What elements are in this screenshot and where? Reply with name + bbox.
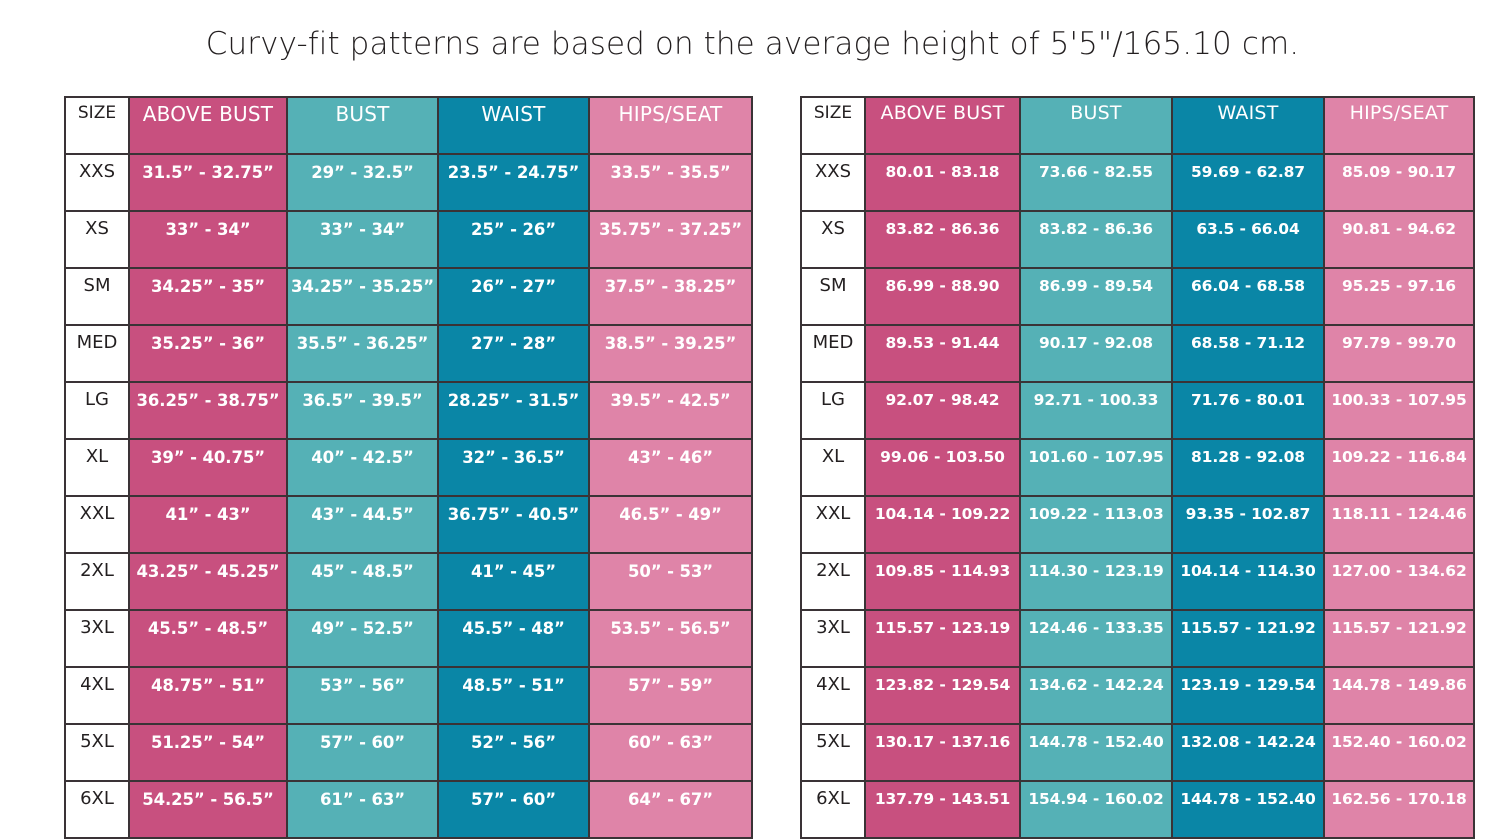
table-row: 2XL109.85 - 114.93114.30 - 123.19104.14 … (801, 553, 1474, 610)
cell-above-bust: 51.25” - 54” (129, 724, 287, 781)
cell-hips-seat: 33.5” - 35.5” (589, 154, 752, 211)
cell-waist: 28.25” - 31.5” (438, 382, 589, 439)
cell-size-label: LG (65, 382, 129, 439)
cell-above-bust: 41” - 43” (129, 496, 287, 553)
cell-above-bust: 36.25” - 38.75” (129, 382, 287, 439)
cell-bust: 61” - 63” (287, 781, 438, 838)
cell-above-bust: 31.5” - 32.75” (129, 154, 287, 211)
cell-waist: 104.14 - 114.30 (1172, 553, 1324, 610)
cell-hips-seat: 127.00 - 134.62 (1324, 553, 1474, 610)
cell-bust: 36.5” - 39.5” (287, 382, 438, 439)
cell-hips-seat: 118.11 - 124.46 (1324, 496, 1474, 553)
column-header-hips-seat: HIPS/SEAT (1324, 97, 1474, 154)
cell-bust: 29” - 32.5” (287, 154, 438, 211)
cell-hips-seat: 90.81 - 94.62 (1324, 211, 1474, 268)
table-row: XXL41” - 43”43” - 44.5”36.75” - 40.5”46.… (65, 496, 752, 553)
table-row: 5XL51.25” - 54”57” - 60”52” - 56”60” - 6… (65, 724, 752, 781)
cell-bust: 144.78 - 152.40 (1020, 724, 1172, 781)
table-body: XXS31.5” - 32.75”29” - 32.5”23.5” - 24.7… (65, 154, 752, 838)
cell-above-bust: 83.82 - 86.36 (865, 211, 1020, 268)
cell-size-label: 3XL (801, 610, 865, 667)
cell-hips-seat: 43” - 46” (589, 439, 752, 496)
cell-waist: 71.76 - 80.01 (1172, 382, 1324, 439)
table-row: 4XL123.82 - 129.54134.62 - 142.24123.19 … (801, 667, 1474, 724)
table-row: 4XL48.75” - 51”53” - 56”48.5” - 51”57” -… (65, 667, 752, 724)
column-header-size: SIZE (65, 97, 129, 154)
cell-waist: 25” - 26” (438, 211, 589, 268)
cell-bust: 49” - 52.5” (287, 610, 438, 667)
cell-bust: 134.62 - 142.24 (1020, 667, 1172, 724)
cell-size-label: SM (65, 268, 129, 325)
cell-bust: 90.17 - 92.08 (1020, 325, 1172, 382)
cell-size-label: 6XL (801, 781, 865, 838)
cell-size-label: XL (65, 439, 129, 496)
cell-hips-seat: 50” - 53” (589, 553, 752, 610)
cell-waist: 48.5” - 51” (438, 667, 589, 724)
cell-size-label: XS (65, 211, 129, 268)
cell-bust: 34.25” - 35.25” (287, 268, 438, 325)
table-row: 2XL43.25” - 45.25”45” - 48.5”41” - 45”50… (65, 553, 752, 610)
cell-above-bust: 33” - 34” (129, 211, 287, 268)
table-header-row: SIZE ABOVE BUST BUST WAIST HIPS/SEAT (801, 97, 1474, 154)
cell-bust: 83.82 - 86.36 (1020, 211, 1172, 268)
table-header-row: SIZE ABOVE BUST BUST WAIST HIPS/SEAT (65, 97, 752, 154)
cell-hips-seat: 85.09 - 90.17 (1324, 154, 1474, 211)
cell-bust: 124.46 - 133.35 (1020, 610, 1172, 667)
size-table-inches: SIZE ABOVE BUST BUST WAIST HIPS/SEAT XXS… (64, 96, 753, 839)
cell-waist: 66.04 - 68.58 (1172, 268, 1324, 325)
cell-above-bust: 109.85 - 114.93 (865, 553, 1020, 610)
cell-above-bust: 86.99 - 88.90 (865, 268, 1020, 325)
cell-bust: 33” - 34” (287, 211, 438, 268)
cell-waist: 23.5” - 24.75” (438, 154, 589, 211)
cell-hips-seat: 115.57 - 121.92 (1324, 610, 1474, 667)
cell-size-label: 2XL (801, 553, 865, 610)
column-header-hips-seat: HIPS/SEAT (589, 97, 752, 154)
cell-waist: 144.78 - 152.40 (1172, 781, 1324, 838)
table-row: 3XL45.5” - 48.5”49” - 52.5”45.5” - 48”53… (65, 610, 752, 667)
table-row: MED89.53 - 91.4490.17 - 92.0868.58 - 71.… (801, 325, 1474, 382)
cell-bust: 57” - 60” (287, 724, 438, 781)
cell-bust: 86.99 - 89.54 (1020, 268, 1172, 325)
cell-hips-seat: 109.22 - 116.84 (1324, 439, 1474, 496)
table-row: SM86.99 - 88.9086.99 - 89.5466.04 - 68.5… (801, 268, 1474, 325)
cell-hips-seat: 37.5” - 38.25” (589, 268, 752, 325)
cell-hips-seat: 60” - 63” (589, 724, 752, 781)
cell-size-label: SM (801, 268, 865, 325)
cell-above-bust: 89.53 - 91.44 (865, 325, 1020, 382)
cell-waist: 27” - 28” (438, 325, 589, 382)
cell-waist: 59.69 - 62.87 (1172, 154, 1324, 211)
cell-bust: 35.5” - 36.25” (287, 325, 438, 382)
cell-above-bust: 54.25” - 56.5” (129, 781, 287, 838)
cell-size-label: XXL (801, 496, 865, 553)
table-row: XXS80.01 - 83.1873.66 - 82.5559.69 - 62.… (801, 154, 1474, 211)
cell-size-label: XXS (801, 154, 865, 211)
table-body: XXS80.01 - 83.1873.66 - 82.5559.69 - 62.… (801, 154, 1474, 838)
cell-waist: 41” - 45” (438, 553, 589, 610)
cell-waist: 115.57 - 121.92 (1172, 610, 1324, 667)
cell-hips-seat: 100.33 - 107.95 (1324, 382, 1474, 439)
cell-size-label: 5XL (801, 724, 865, 781)
cell-size-label: XS (801, 211, 865, 268)
table-row: 5XL130.17 - 137.16144.78 - 152.40132.08 … (801, 724, 1474, 781)
table-row: XXL104.14 - 109.22109.22 - 113.0393.35 -… (801, 496, 1474, 553)
cell-waist: 81.28 - 92.08 (1172, 439, 1324, 496)
cell-bust: 109.22 - 113.03 (1020, 496, 1172, 553)
cell-bust: 92.71 - 100.33 (1020, 382, 1172, 439)
column-header-waist: WAIST (1172, 97, 1324, 154)
table-row: XL39” - 40.75”40” - 42.5”32” - 36.5”43” … (65, 439, 752, 496)
table-row: 3XL115.57 - 123.19124.46 - 133.35115.57 … (801, 610, 1474, 667)
column-header-bust: BUST (287, 97, 438, 154)
cell-size-label: 4XL (801, 667, 865, 724)
cell-hips-seat: 53.5” - 56.5” (589, 610, 752, 667)
cell-above-bust: 45.5” - 48.5” (129, 610, 287, 667)
size-table-centimeters: SIZE ABOVE BUST BUST WAIST HIPS/SEAT XXS… (800, 96, 1475, 839)
column-header-waist: WAIST (438, 97, 589, 154)
table-row: 6XL137.79 - 143.51154.94 - 160.02144.78 … (801, 781, 1474, 838)
cell-waist: 68.58 - 71.12 (1172, 325, 1324, 382)
cell-bust: 154.94 - 160.02 (1020, 781, 1172, 838)
cell-hips-seat: 95.25 - 97.16 (1324, 268, 1474, 325)
cell-hips-seat: 152.40 - 160.02 (1324, 724, 1474, 781)
table-row: XL99.06 - 103.50101.60 - 107.9581.28 - 9… (801, 439, 1474, 496)
cell-above-bust: 80.01 - 83.18 (865, 154, 1020, 211)
cell-size-label: 3XL (65, 610, 129, 667)
cell-bust: 101.60 - 107.95 (1020, 439, 1172, 496)
column-header-above-bust: ABOVE BUST (129, 97, 287, 154)
cell-size-label: 6XL (65, 781, 129, 838)
cell-hips-seat: 162.56 - 170.18 (1324, 781, 1474, 838)
cell-waist: 32” - 36.5” (438, 439, 589, 496)
cell-bust: 43” - 44.5” (287, 496, 438, 553)
table-row: SM34.25” - 35”34.25” - 35.25”26” - 27”37… (65, 268, 752, 325)
column-header-bust: BUST (1020, 97, 1172, 154)
cell-bust: 45” - 48.5” (287, 553, 438, 610)
cell-size-label: LG (801, 382, 865, 439)
size-chart-page: Curvy-fit patterns are based on the aver… (0, 0, 1505, 835)
cell-above-bust: 39” - 40.75” (129, 439, 287, 496)
cell-above-bust: 104.14 - 109.22 (865, 496, 1020, 553)
cell-waist: 45.5” - 48” (438, 610, 589, 667)
table-row: XS83.82 - 86.3683.82 - 86.3663.5 - 66.04… (801, 211, 1474, 268)
cell-waist: 123.19 - 129.54 (1172, 667, 1324, 724)
cell-bust: 40” - 42.5” (287, 439, 438, 496)
cell-hips-seat: 57” - 59” (589, 667, 752, 724)
table-row: MED35.25” - 36”35.5” - 36.25”27” - 28”38… (65, 325, 752, 382)
cell-hips-seat: 144.78 - 149.86 (1324, 667, 1474, 724)
cell-hips-seat: 38.5” - 39.25” (589, 325, 752, 382)
table-row: LG92.07 - 98.4292.71 - 100.3371.76 - 80.… (801, 382, 1474, 439)
cell-bust: 114.30 - 123.19 (1020, 553, 1172, 610)
cell-size-label: 4XL (65, 667, 129, 724)
cell-above-bust: 43.25” - 45.25” (129, 553, 287, 610)
cell-size-label: 2XL (65, 553, 129, 610)
page-title: Curvy-fit patterns are based on the aver… (0, 26, 1505, 62)
cell-hips-seat: 46.5” - 49” (589, 496, 752, 553)
cell-hips-seat: 64” - 67” (589, 781, 752, 838)
cell-above-bust: 34.25” - 35” (129, 268, 287, 325)
cell-above-bust: 99.06 - 103.50 (865, 439, 1020, 496)
cell-waist: 63.5 - 66.04 (1172, 211, 1324, 268)
cell-above-bust: 35.25” - 36” (129, 325, 287, 382)
column-header-above-bust: ABOVE BUST (865, 97, 1020, 154)
cell-above-bust: 130.17 - 137.16 (865, 724, 1020, 781)
cell-above-bust: 115.57 - 123.19 (865, 610, 1020, 667)
cell-size-label: XXL (65, 496, 129, 553)
cell-above-bust: 123.82 - 129.54 (865, 667, 1020, 724)
cell-waist: 93.35 - 102.87 (1172, 496, 1324, 553)
cell-size-label: XL (801, 439, 865, 496)
cell-hips-seat: 35.75” - 37.25” (589, 211, 752, 268)
cell-size-label: XXS (65, 154, 129, 211)
table-row: 6XL54.25” - 56.5”61” - 63”57” - 60”64” -… (65, 781, 752, 838)
size-tables-container: SIZE ABOVE BUST BUST WAIST HIPS/SEAT XXS… (0, 96, 1505, 835)
table-row: XXS31.5” - 32.75”29” - 32.5”23.5” - 24.7… (65, 154, 752, 211)
cell-size-label: MED (801, 325, 865, 382)
cell-bust: 53” - 56” (287, 667, 438, 724)
cell-above-bust: 92.07 - 98.42 (865, 382, 1020, 439)
cell-above-bust: 137.79 - 143.51 (865, 781, 1020, 838)
cell-bust: 73.66 - 82.55 (1020, 154, 1172, 211)
cell-above-bust: 48.75” - 51” (129, 667, 287, 724)
column-header-size: SIZE (801, 97, 865, 154)
table-row: XS33” - 34”33” - 34”25” - 26”35.75” - 37… (65, 211, 752, 268)
table-row: LG36.25” - 38.75”36.5” - 39.5”28.25” - 3… (65, 382, 752, 439)
cell-hips-seat: 97.79 - 99.70 (1324, 325, 1474, 382)
cell-size-label: MED (65, 325, 129, 382)
cell-size-label: 5XL (65, 724, 129, 781)
cell-waist: 57” - 60” (438, 781, 589, 838)
cell-waist: 36.75” - 40.5” (438, 496, 589, 553)
cell-hips-seat: 39.5” - 42.5” (589, 382, 752, 439)
cell-waist: 52” - 56” (438, 724, 589, 781)
cell-waist: 132.08 - 142.24 (1172, 724, 1324, 781)
cell-waist: 26” - 27” (438, 268, 589, 325)
